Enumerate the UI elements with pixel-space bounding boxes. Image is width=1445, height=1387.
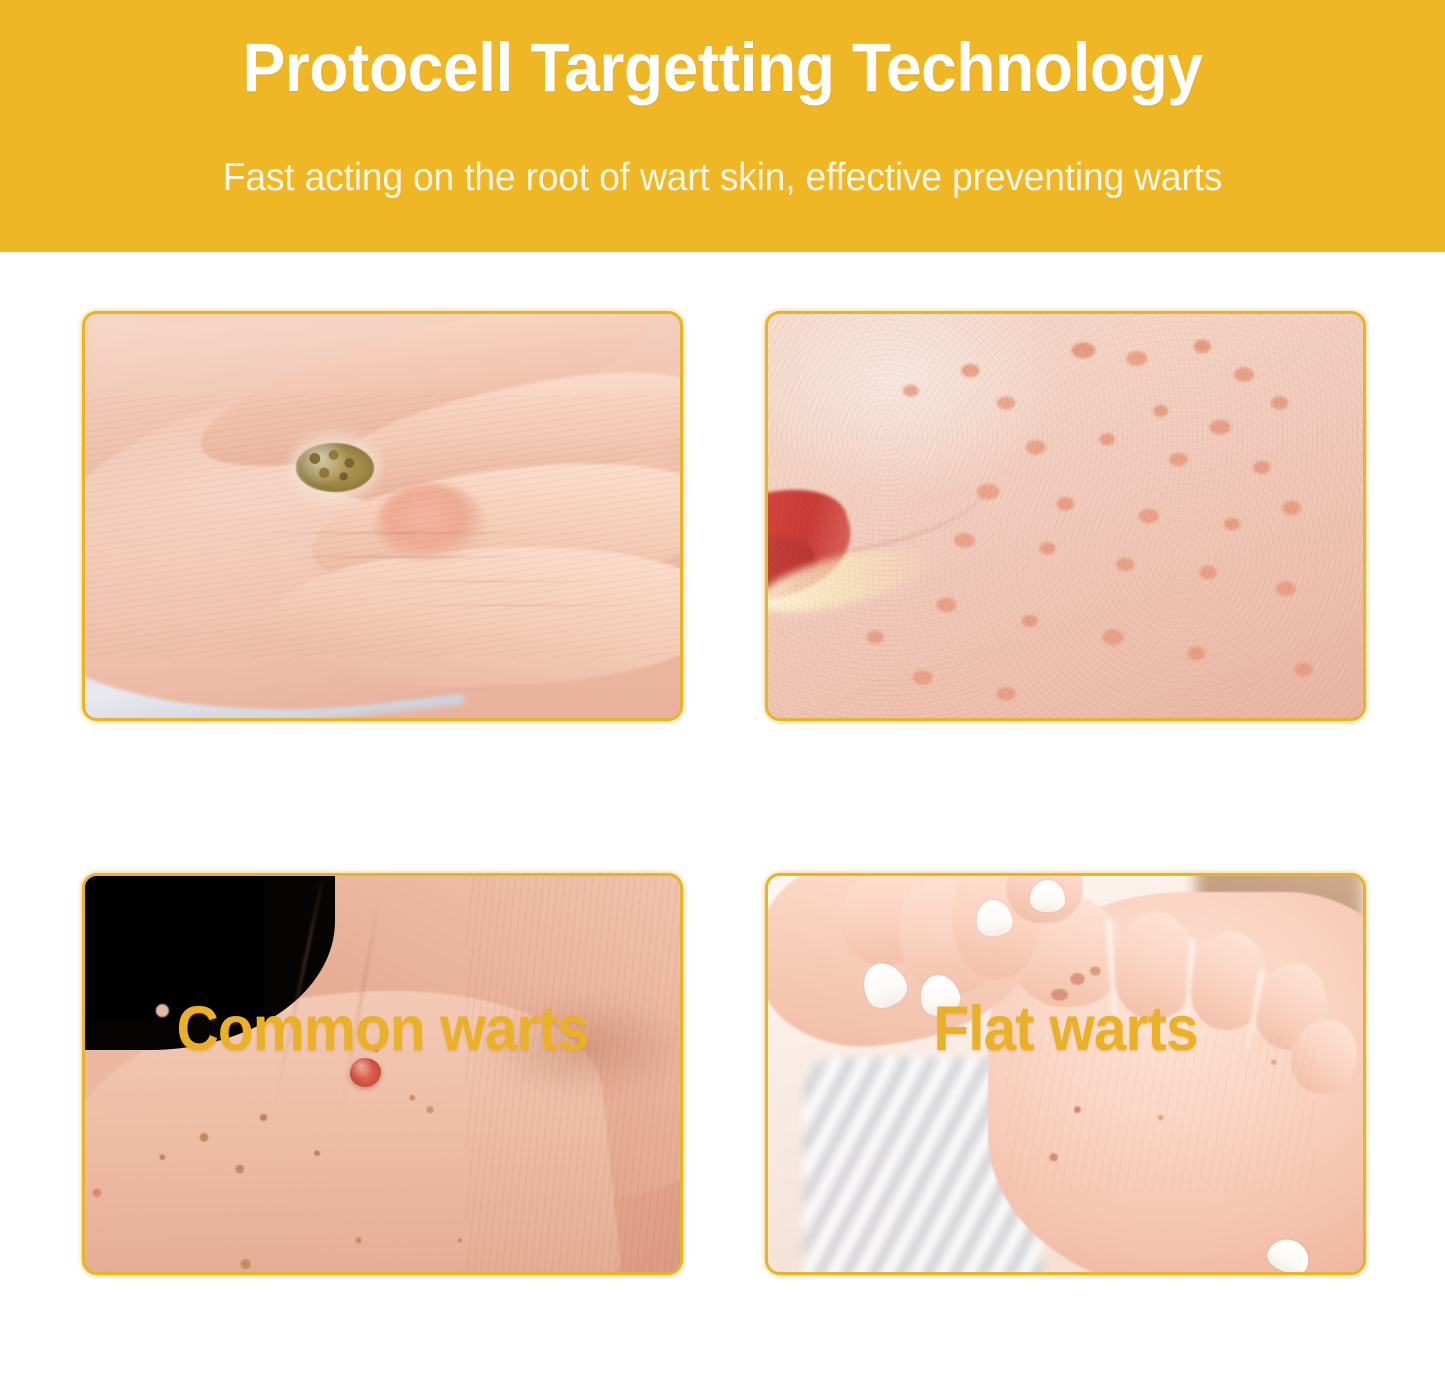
card-label-flat-warts: Flat warts — [786, 998, 1345, 1061]
foot-sole-with-plantar-warts-photo — [768, 876, 1363, 1272]
wart-types-grid: Common warts Flat warts Genital warts Pl… — [0, 252, 1445, 1387]
card-label-common-warts: Common warts — [103, 998, 662, 1061]
photo-frame — [765, 311, 1366, 721]
hand-with-common-wart-photo — [85, 314, 680, 718]
page-title: Protocell Targetting Technology — [51, 33, 1395, 102]
photo-frame — [765, 873, 1366, 1275]
face-with-flat-warts-photo — [768, 314, 1363, 718]
wart-type-card-plantar — [765, 873, 1366, 1275]
wart-type-card-common — [82, 311, 683, 721]
infographic-page: Protocell Targetting Technology Fast act… — [0, 0, 1445, 1387]
wart-type-card-flat — [765, 311, 1366, 721]
photo-frame — [82, 873, 683, 1275]
page-subtitle: Fast acting on the root of wart skin, ef… — [33, 158, 1413, 197]
wart-type-card-genital — [82, 873, 683, 1275]
photo-frame — [82, 311, 683, 721]
neck-with-wart-photo — [85, 876, 680, 1272]
header-banner: Protocell Targetting Technology Fast act… — [0, 0, 1445, 252]
